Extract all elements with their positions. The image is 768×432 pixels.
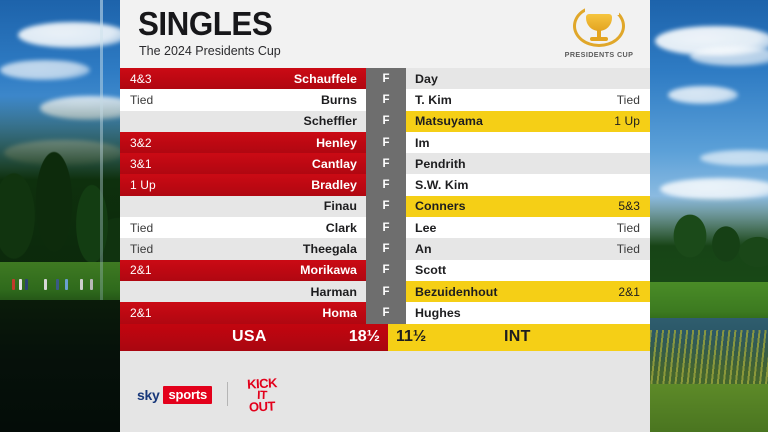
scoreboard-header: SINGLES The 2024 Presidents Cup PRESIDEN…	[120, 0, 650, 68]
totals-bar: USA 18½ 11½ INT	[120, 324, 650, 351]
int-player-name: Conners	[415, 199, 466, 213]
match-int-side: Scott	[406, 260, 650, 281]
match-int-side: Pendrith	[406, 153, 650, 174]
match-usa-side: 3&1Cantlay	[120, 153, 366, 174]
sky-sports-word: sky	[137, 387, 159, 403]
match-int-side: AnTied	[406, 238, 650, 259]
match-usa-side: 1 UpBradley	[120, 174, 366, 195]
usa-player-name: Theegala	[303, 242, 357, 256]
presidents-cup-logo: PRESIDENTS CUP	[560, 4, 638, 64]
int-player-name: Im	[415, 136, 430, 150]
match-usa-side: 2&1Morikawa	[120, 260, 366, 281]
table-row[interactable]: 4&3SchauffeleFDay	[120, 68, 650, 89]
spectators	[10, 274, 100, 290]
usa-result: Tied	[130, 93, 153, 107]
table-row[interactable]: 3&2HenleyFIm	[120, 132, 650, 153]
match-usa-side: Harman	[120, 281, 366, 302]
totals-usa: USA 18½	[120, 324, 388, 351]
int-result: 2&1	[618, 285, 640, 299]
sky-sports-box: sports	[163, 386, 212, 404]
match-int-side: Matsuyama1 Up	[406, 111, 650, 132]
usa-player-name: Harman	[311, 285, 357, 299]
logo-label: PRESIDENTS CUP	[560, 50, 638, 59]
totals-int: 11½ INT	[388, 324, 650, 351]
kick-it-out-line3: OUT	[242, 398, 282, 414]
usa-result: 1 Up	[130, 178, 156, 192]
usa-player-name: Scheffler	[304, 114, 357, 128]
screenshot-root: SINGLES The 2024 Presidents Cup PRESIDEN…	[0, 0, 768, 432]
match-status: F	[366, 217, 406, 238]
match-status: F	[366, 89, 406, 110]
match-status: F	[366, 111, 406, 132]
match-usa-side: 2&1Homa	[120, 302, 366, 323]
table-row[interactable]: 1 UpBradleyFS.W. Kim	[120, 174, 650, 195]
match-status: F	[366, 281, 406, 302]
page-subtitle: The 2024 Presidents Cup	[139, 44, 281, 58]
treeline-right	[650, 196, 768, 292]
usa-player-name: Cantlay	[312, 157, 357, 171]
int-player-name: Scott	[415, 263, 446, 277]
match-int-side: Hughes	[406, 302, 650, 323]
match-usa-side: Finau	[120, 196, 366, 217]
cloud	[18, 22, 128, 48]
cloud	[668, 86, 738, 104]
usa-player-name: Henley	[316, 136, 357, 150]
table-row[interactable]: HarmanFBezuidenhout2&1	[120, 281, 650, 302]
page-title: SINGLES	[138, 7, 272, 40]
table-row[interactable]: 2&1MorikawaFScott	[120, 260, 650, 281]
trophy-cup-icon	[573, 4, 625, 48]
match-usa-side: TiedTheegala	[120, 238, 366, 259]
footer-divider	[227, 382, 228, 406]
usa-result: 3&1	[130, 157, 152, 171]
usa-result: Tied	[130, 242, 153, 256]
match-status: F	[366, 174, 406, 195]
match-usa-side: Scheffler	[120, 111, 366, 132]
int-result: Tied	[617, 221, 640, 235]
int-player-name: Lee	[415, 221, 437, 235]
usa-player-name: Schauffele	[294, 72, 357, 86]
table-row[interactable]: TiedClarkFLeeTied	[120, 217, 650, 238]
int-player-name: T. Kim	[415, 93, 452, 107]
int-result: Tied	[617, 242, 640, 256]
int-player-name: Day	[415, 72, 438, 86]
totals-int-score: 11½	[396, 328, 426, 346]
usa-player-name: Finau	[324, 199, 357, 213]
table-row[interactable]: 3&1CantlayFPendrith	[120, 153, 650, 174]
usa-result: 2&1	[130, 263, 152, 277]
match-status: F	[366, 196, 406, 217]
sky-sports-logo: sky sports	[137, 386, 212, 404]
usa-result: 4&3	[130, 72, 152, 86]
table-row[interactable]: SchefflerFMatsuyama1 Up	[120, 111, 650, 132]
int-player-name: S.W. Kim	[415, 178, 468, 192]
match-int-side: S.W. Kim	[406, 174, 650, 195]
int-player-name: Matsuyama	[415, 114, 483, 128]
usa-result: 2&1	[130, 306, 152, 320]
pole	[100, 0, 103, 300]
usa-result: Tied	[130, 221, 153, 235]
match-int-side: T. KimTied	[406, 89, 650, 110]
match-int-side: Bezuidenhout2&1	[406, 281, 650, 302]
match-status: F	[366, 68, 406, 89]
water-reflection-left	[0, 300, 128, 432]
table-row[interactable]: TiedBurnsFT. KimTied	[120, 89, 650, 110]
match-status: F	[366, 132, 406, 153]
scoreboard-footer: sky sports KICK IT OUT	[120, 351, 650, 432]
usa-player-name: Burns	[321, 93, 357, 107]
match-int-side: Conners5&3	[406, 196, 650, 217]
cloud	[0, 60, 90, 80]
usa-player-name: Bradley	[311, 178, 357, 192]
match-status: F	[366, 153, 406, 174]
bank-right	[650, 384, 768, 432]
totals-int-label: INT	[504, 328, 531, 346]
totals-usa-label: USA	[232, 328, 267, 346]
match-usa-side: TiedBurns	[120, 89, 366, 110]
int-result: Tied	[617, 93, 640, 107]
int-player-name: Pendrith	[415, 157, 466, 171]
treeline-left	[0, 96, 128, 278]
usa-player-name: Clark	[326, 221, 357, 235]
int-player-name: Bezuidenhout	[415, 285, 498, 299]
cup-foot-shape	[590, 37, 608, 41]
int-player-name: Hughes	[415, 306, 461, 320]
usa-player-name: Homa	[322, 306, 357, 320]
int-result: 5&3	[618, 199, 640, 213]
match-status: F	[366, 302, 406, 323]
table-row[interactable]: FinauFConners5&3	[120, 196, 650, 217]
match-int-side: Im	[406, 132, 650, 153]
table-row[interactable]: 2&1HomaFHughes	[120, 302, 650, 323]
kick-it-out-logo: KICK IT OUT	[242, 377, 282, 413]
match-int-side: LeeTied	[406, 217, 650, 238]
match-status: F	[366, 238, 406, 259]
int-result: 1 Up	[614, 114, 640, 128]
scoreboard-panel: SINGLES The 2024 Presidents Cup PRESIDEN…	[120, 0, 650, 432]
match-usa-side: 4&3Schauffele	[120, 68, 366, 89]
totals-usa-score: 18½	[349, 328, 380, 346]
match-usa-side: TiedClark	[120, 217, 366, 238]
match-usa-side: 3&2Henley	[120, 132, 366, 153]
usa-result: 3&2	[130, 136, 152, 150]
match-rows: 4&3SchauffeleFDayTiedBurnsFT. KimTiedSch…	[120, 68, 650, 324]
match-status: F	[366, 260, 406, 281]
int-player-name: An	[415, 242, 432, 256]
usa-player-name: Morikawa	[300, 263, 357, 277]
table-row[interactable]: TiedTheegalaFAnTied	[120, 238, 650, 259]
match-int-side: Day	[406, 68, 650, 89]
